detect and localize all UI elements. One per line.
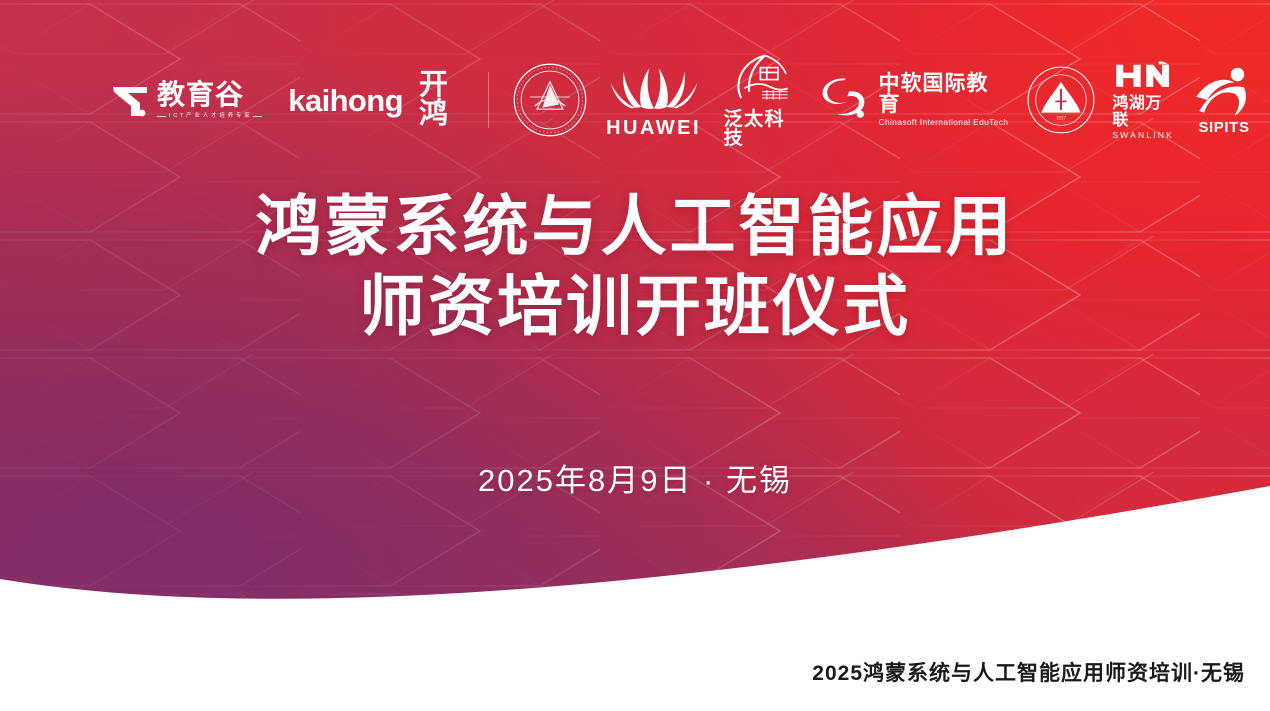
swanlink-logo-icon [1113,61,1173,94]
kaihong-name-cn: 开鸿 [419,71,467,129]
logo-npu [506,52,594,148]
logo-huawei: HUAWEI [594,52,714,148]
title-line-1: 鸿蒙系统与人工智能应用 [0,186,1270,266]
chinasoft-logo-icon [820,75,870,126]
logo-fantai: 泛太科技 [714,52,810,148]
fantai-logo-icon [730,53,794,108]
jiaoyugu-name: 教育谷 [157,81,244,109]
kaihong-name-en: kaihong [288,85,403,116]
slide-title: 鸿蒙系统与人工智能应用 师资培训开班仪式 [0,186,1270,346]
presentation-slide: 教育谷 I C T 产 业 人 才 培 养 专 家 kaihong 开鸿 [0,0,1270,711]
jiaoyugu-mark-icon [110,85,150,119]
svg-text:1937: 1937 [1056,117,1066,122]
logo-kaihong: kaihong 开鸿 [270,52,470,148]
huawei-wordmark: HUAWEI [606,118,701,138]
npu-seal-icon [512,62,588,138]
fantai-name-cn: 泛太科技 [724,110,800,148]
event-date-location: 2025年8月9日 · 无锡 [0,455,1270,500]
swanlink-name-cn: 鸿湖万联 [1112,95,1174,130]
swanlink-name-en: SWANLINK [1112,131,1174,140]
chinasoft-name-en: Chinasoft International EduTech [879,118,1009,127]
sipits-wordmark: SIPITS [1198,120,1249,135]
college-seal-icon: 1937 [1026,65,1096,135]
partner-logo-strip: 教育谷 I C T 产 业 人 才 培 养 专 家 kaihong 开鸿 [0,52,1270,148]
jiaoyugu-tagline: I C T 产 业 人 才 培 养 专 家 [157,114,262,119]
footer-title: 2025鸿蒙系统与人工智能应用师资培训·无锡 [812,657,1245,687]
logo-chinasoft: 中软国际教育 Chinasoft International EduTech [810,52,1019,148]
logo-sipits: SIPITS [1182,52,1270,148]
chinasoft-name-cn: 中软国际教育 [879,73,1009,115]
logo-jiaoyugu: 教育谷 I C T 产 业 人 才 培 养 专 家 [0,52,270,148]
logo-divider [488,72,489,128]
huawei-flower-icon [606,62,702,115]
title-line-2: 师资培训开班仪式 [0,266,1270,346]
logo-swanlink: 鸿湖万联 SWANLINK [1104,52,1182,148]
logo-college: 1937 [1018,52,1104,148]
sipits-runner-icon [1188,65,1260,124]
